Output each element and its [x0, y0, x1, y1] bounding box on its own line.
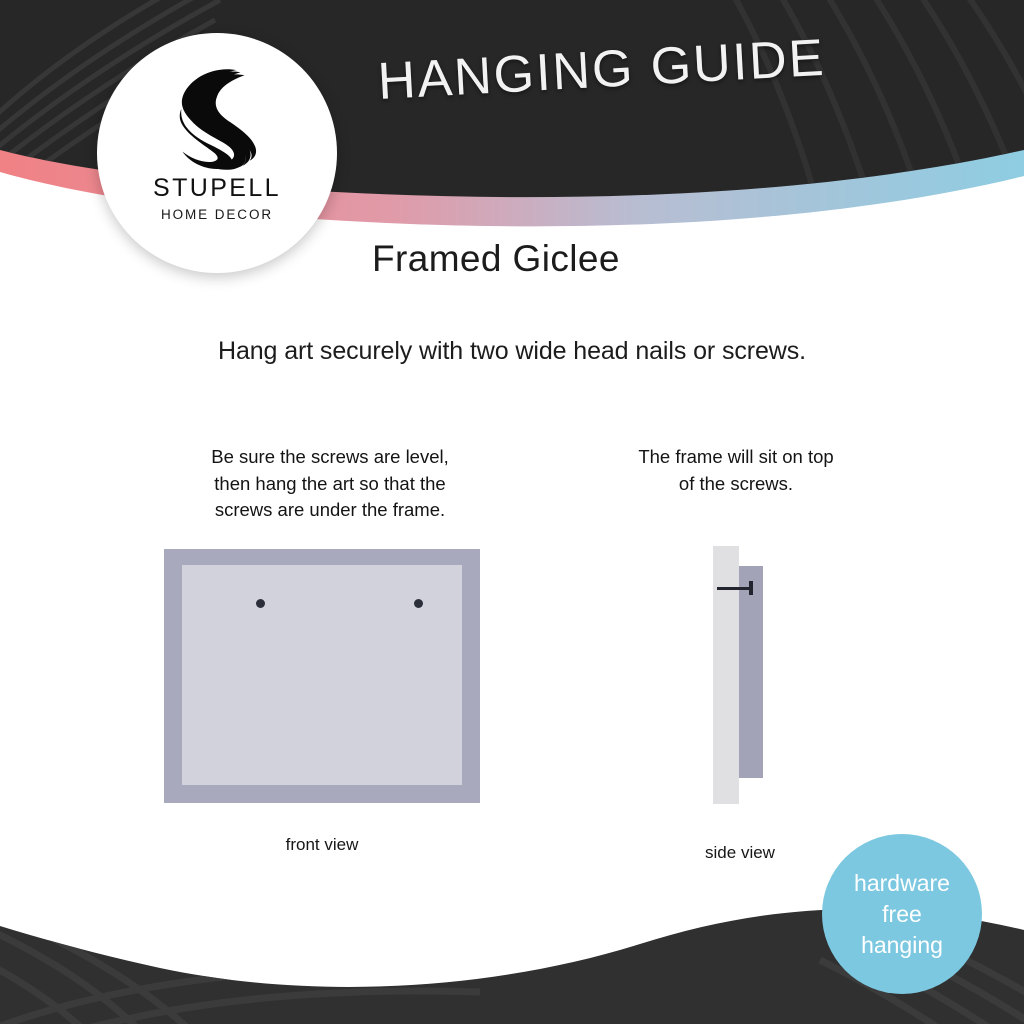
side-view-wall — [713, 546, 739, 804]
front-view-line-1: Be sure the screws are level, — [150, 444, 510, 471]
side-view-panel: The frame will sit on top of the screws. — [560, 444, 912, 497]
side-view-line-1: The frame will sit on top — [560, 444, 912, 471]
front-view-line-3: screws are under the frame. — [150, 497, 510, 524]
hanging-guide-page: STUPELL HOME DECOR HANGING GUIDE Framed … — [0, 0, 1024, 1024]
side-view-line-2: of the screws. — [560, 471, 912, 498]
nail-shaft-icon — [717, 587, 753, 590]
badge-line-1: hardware — [854, 868, 950, 899]
side-view-instructions: The frame will sit on top of the screws. — [560, 444, 912, 497]
logo-brand-subtitle: HOME DECOR — [161, 208, 273, 222]
front-view-frame-mat — [182, 565, 462, 785]
hardware-free-hanging-badge: hardware free hanging — [822, 834, 982, 994]
logo-brand-name: STUPELL — [153, 176, 281, 201]
screw-dot-right-icon — [414, 599, 423, 608]
page-title: HANGING GUIDE — [376, 28, 826, 112]
product-type-heading: Framed Giclee — [372, 238, 620, 280]
front-view-frame-diagram — [164, 549, 480, 803]
screw-dot-left-icon — [256, 599, 265, 608]
nail-head-icon — [749, 581, 753, 595]
front-view-panel: Be sure the screws are level, then hang … — [150, 444, 510, 524]
side-view-caption: side view — [650, 843, 830, 863]
brand-logo-badge: STUPELL HOME DECOR — [97, 33, 337, 273]
badge-line-3: hanging — [861, 930, 943, 961]
front-view-instructions: Be sure the screws are level, then hang … — [150, 444, 510, 524]
stupell-swirl-icon — [161, 60, 273, 172]
main-instruction-text: Hang art securely with two wide head nai… — [0, 337, 1024, 366]
badge-line-2: free — [882, 899, 922, 930]
front-view-caption: front view — [164, 835, 480, 855]
front-view-line-2: then hang the art so that the — [150, 471, 510, 498]
side-view-frame — [739, 566, 763, 778]
